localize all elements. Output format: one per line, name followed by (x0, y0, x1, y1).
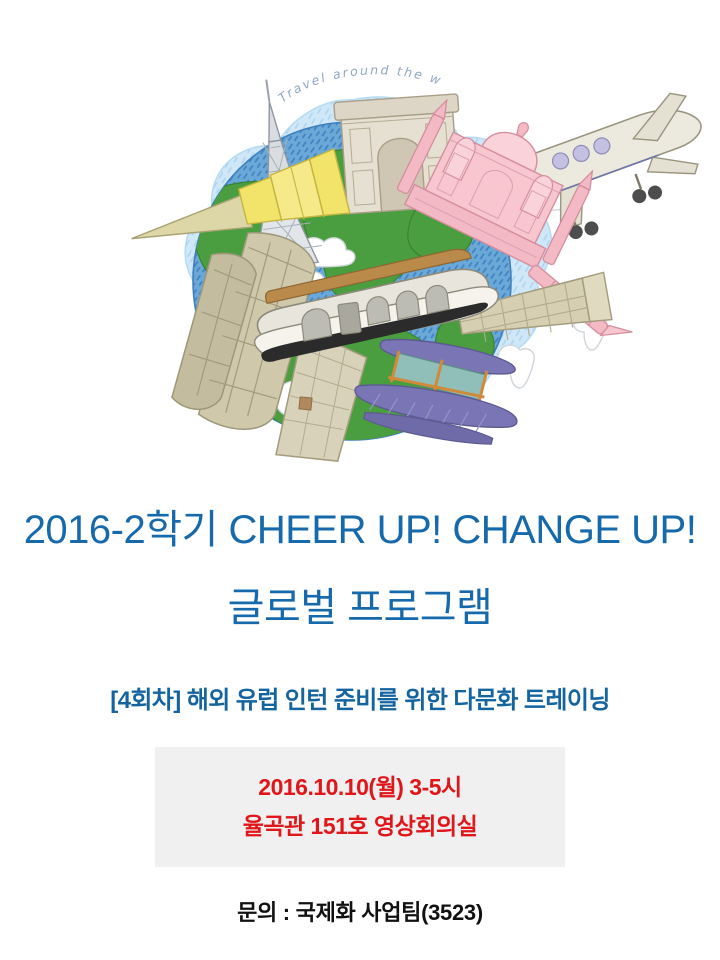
travel-illustration: Travel around the world (0, 0, 720, 470)
page-title-line-2: 글로벌 프로그램 (228, 588, 493, 628)
svg-text:Travel around the world: Travel around the world (0, 0, 445, 105)
travel-caption: Travel around the world (0, 0, 445, 105)
schedule-location: 율곡관 151호 영상회의실 (243, 815, 478, 838)
program-subtitle: [4회차] 해외 유럽 인턴 준비를 위한 다문화 트레이닝 (110, 680, 610, 715)
schedule-info-box: 2016.10.10(월) 3-5시 율곡관 151호 영상회의실 (155, 747, 565, 867)
travel-caption-text: Travel around the world (0, 0, 445, 105)
text-block: 2016-2학기 CHEER UP! CHANGE UP! 글로벌 프로그램 [… (0, 470, 720, 927)
schedule-datetime: 2016.10.10(월) 3-5시 (258, 776, 461, 799)
contact-info: 문의 : 국제화 사업팀(3523) (237, 895, 483, 927)
poster: Travel around the world 2016-2학기 CHEER U… (0, 0, 720, 960)
page-title-line-1: 2016-2학기 CHEER UP! CHANGE UP! (24, 510, 697, 550)
